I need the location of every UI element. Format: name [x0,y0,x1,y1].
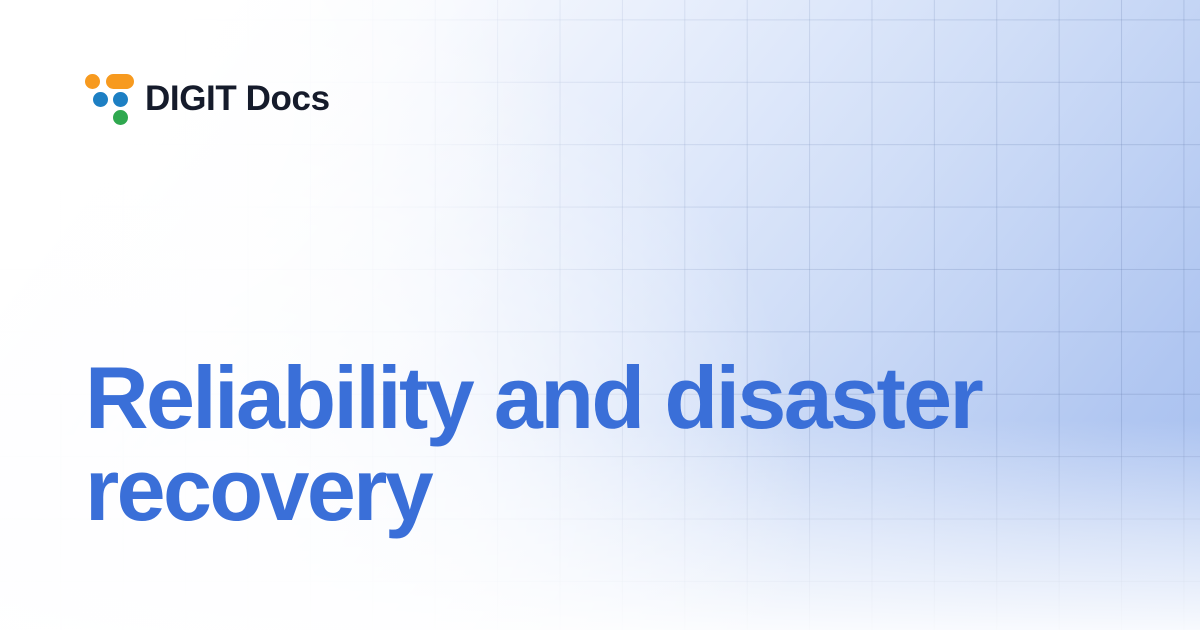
digit-logo-icon [85,72,127,124]
og-card: DIGIT Docs Reliability and disaster reco… [0,0,1200,630]
orange-pill-icon [106,74,134,89]
brand-lockup[interactable]: DIGIT Docs [85,72,330,124]
brand-name: DIGIT Docs [145,81,330,116]
green-dot-icon [113,110,128,125]
page-title: Reliability and disaster recovery [85,352,1145,535]
blue-dot-left-icon [93,92,108,107]
blue-dot-right-icon [113,92,128,107]
orange-dot-icon [85,74,100,89]
